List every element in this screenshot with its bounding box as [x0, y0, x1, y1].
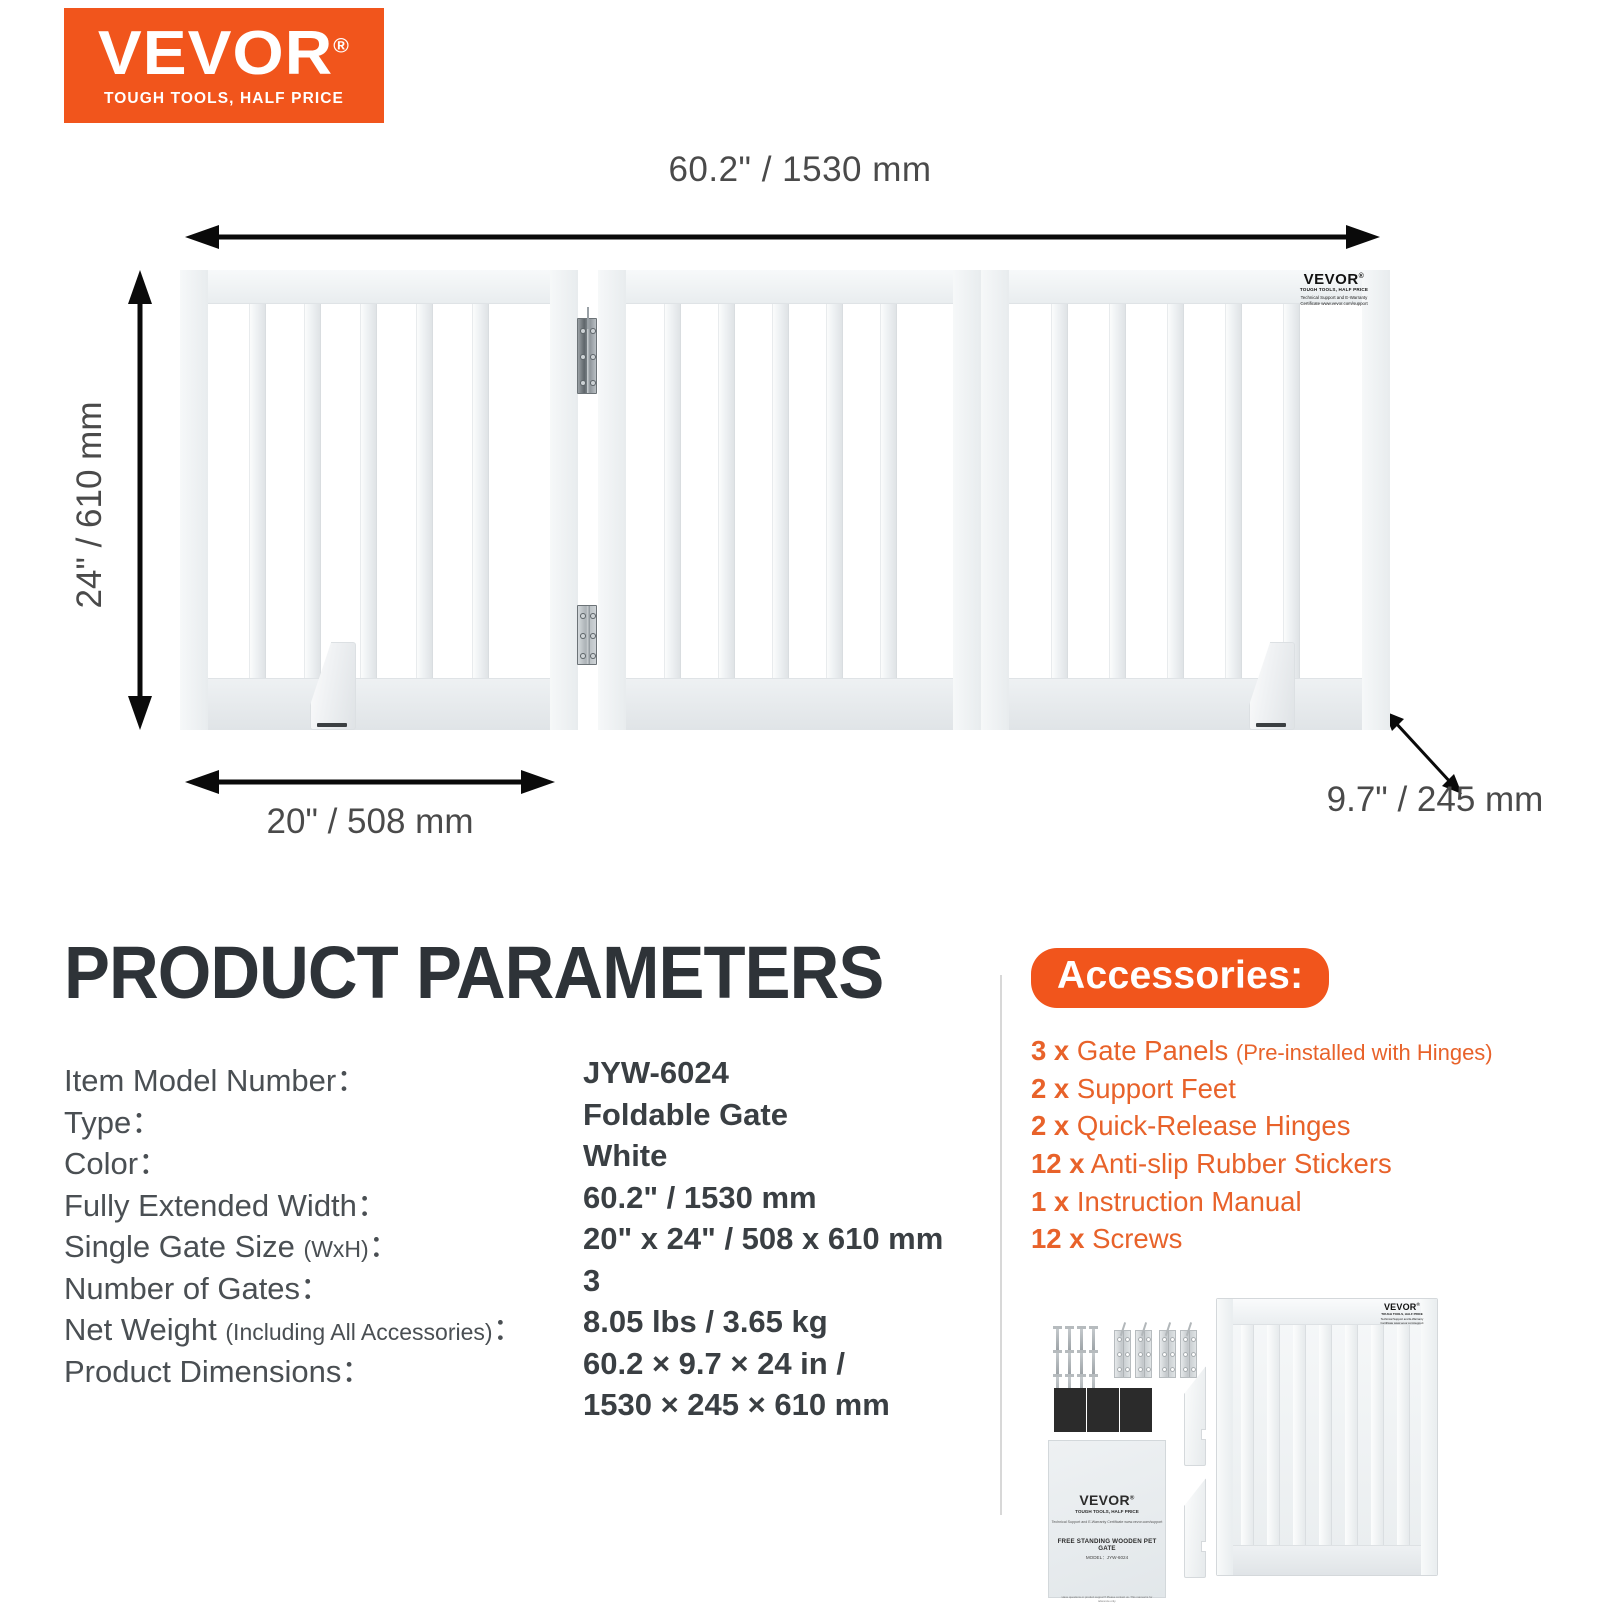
panel-slat: [1167, 304, 1184, 678]
param-label: Product Dimensions：: [64, 1346, 372, 1391]
hinge-screw: [1118, 1368, 1121, 1371]
param-value: 20" x 24" / 508 x 610 mm: [583, 1221, 943, 1257]
height-dimension-arrow: [128, 270, 152, 730]
panel-left-stile: [1217, 1299, 1233, 1575]
param-value: 8.05 lbs / 3.65 kg: [583, 1304, 828, 1340]
screw-icon: [1092, 1350, 1095, 1376]
foot-notch: [1201, 1541, 1210, 1552]
param-label: Single Gate Size (WxH)：: [64, 1221, 400, 1266]
hinge-screw: [1171, 1338, 1174, 1341]
manual-registered: ®: [1130, 1495, 1135, 1501]
accessory-name: Gate Panels: [1077, 1035, 1228, 1066]
hinge-screw: [591, 634, 595, 638]
quick-release-hinge-top: [577, 318, 597, 394]
hinge-icon: [1180, 1330, 1197, 1378]
panel-top-rail: [180, 270, 578, 304]
gate-panel-icon: VEVOR® TOUGH TOOLS, HALF PRICE Technical…: [1216, 1298, 1438, 1576]
screw-head: [1077, 1326, 1086, 1329]
hinge-screw: [1139, 1338, 1142, 1341]
accessory-qty: 2 x: [1031, 1073, 1069, 1104]
sticker-support-line-2: Certificate www.vevor.com/support: [1373, 1322, 1431, 1326]
hinge-screw: [581, 634, 585, 638]
hinge-icon: [1114, 1330, 1131, 1378]
accessory-name: Screws: [1092, 1223, 1182, 1254]
panel-right-stile: [1362, 270, 1390, 730]
hinge-screw: [591, 654, 595, 658]
manual-brand: VEVOR®: [1049, 1493, 1165, 1507]
panel-bottom-rail: [180, 678, 578, 730]
accessory-name: Anti-slip Rubber Stickers: [1091, 1148, 1392, 1179]
rubber-sticker-icon: [1120, 1388, 1152, 1432]
panel-slat: [826, 304, 843, 678]
hinge-screw: [1184, 1338, 1187, 1341]
panel-bottom-rail: [981, 678, 1390, 730]
screw-icon: [1080, 1350, 1083, 1376]
table-row: Color： White: [64, 1138, 999, 1180]
hinge-screw: [581, 329, 585, 333]
hinge-screw: [1118, 1353, 1121, 1356]
table-row: Product Dimensions： 60.2 × 9.7 × 24 in /…: [64, 1346, 999, 1388]
support-foot-icon: [1184, 1366, 1206, 1466]
hinge-screw: [591, 355, 595, 359]
panel-slat: [664, 304, 681, 678]
table-row: Net Weight (Including All Accessories)： …: [64, 1304, 999, 1346]
accessory-qty: 3 x: [1031, 1035, 1069, 1066]
vevor-product-sticker: VEVOR® TOUGH TOOLS, HALF PRICE Technical…: [1288, 272, 1380, 312]
param-label: Fully Extended Width：: [64, 1180, 388, 1225]
panel-bottom-rail: [598, 678, 981, 730]
screw-head: [1065, 1326, 1074, 1329]
hinge-knuckle: [1168, 1331, 1170, 1377]
accessory-note: (Pre-installed with Hinges): [1236, 1040, 1493, 1065]
brand-tagline: TOUGH TOOLS, HALF PRICE: [104, 90, 344, 108]
hinge-screw: [591, 614, 595, 618]
param-value: JYW-6024: [583, 1055, 729, 1091]
panel-slat: [772, 304, 789, 678]
panel-slat: [1345, 1325, 1358, 1545]
panel-slat: [304, 304, 321, 678]
screw-icon: [1080, 1326, 1083, 1352]
hinge-screw: [1163, 1338, 1166, 1341]
hinge-screw: [591, 381, 595, 385]
instruction-manual: VEVOR® TOUGH TOOLS, HALF PRICE Technical…: [1048, 1440, 1166, 1598]
screw-head: [1065, 1374, 1074, 1377]
product-spec-page: VEVOR® TOUGH TOOLS, HALF PRICE 60.2" / 1…: [0, 0, 1600, 1600]
hinge-screw: [1163, 1368, 1166, 1371]
hinge-screw: [1126, 1353, 1129, 1356]
hinge-screw: [1147, 1353, 1150, 1356]
hinge-knuckle: [1189, 1331, 1191, 1377]
panel-slat: [472, 304, 489, 678]
hinge-screw: [581, 381, 585, 385]
product-photo-area: 60.2" / 1530 mm 24" / 610 mm 20" / 508 m…: [0, 130, 1600, 910]
param-value: 3: [583, 1263, 600, 1299]
hinge-icon: [1159, 1330, 1176, 1378]
hinge-knuckle: [1123, 1331, 1125, 1377]
accessory-name: Instruction Manual: [1077, 1186, 1302, 1217]
vevor-logo: VEVOR® TOUGH TOOLS, HALF PRICE: [64, 8, 384, 123]
param-label: Net Weight (Including All Accessories)：: [64, 1304, 524, 1349]
hinge-screw: [1147, 1368, 1150, 1371]
panel-vevor-sticker: VEVOR® TOUGH TOOLS, HALF PRICE Technical…: [1373, 1302, 1431, 1325]
rubber-sticker-icon: [1087, 1388, 1119, 1432]
panel-right-stile: [1421, 1299, 1437, 1575]
screw-head: [1077, 1350, 1086, 1353]
panel-slat: [1283, 304, 1300, 678]
manual-model: MODEL：JYW-6024: [1049, 1555, 1165, 1561]
panel-right-stile: [550, 270, 578, 730]
panel-slat: [1241, 1325, 1254, 1545]
foot-rubber-pad: [1256, 723, 1286, 727]
param-value: 60.2 × 9.7 × 24 in /: [583, 1346, 845, 1382]
hinge-knuckle: [587, 606, 590, 664]
screw-head: [1089, 1374, 1098, 1377]
list-item: 3 x Gate Panels (Pre-installed with Hing…: [1031, 1032, 1591, 1070]
gate-panel-1: [180, 270, 578, 730]
rubber-sticker-icon: [1054, 1388, 1086, 1432]
panel-slat: [1267, 1325, 1280, 1545]
param-label: Number of Gates：: [64, 1263, 331, 1308]
screw-icon: [1092, 1326, 1095, 1352]
support-foot-icon: [1184, 1478, 1206, 1578]
foot-rubber-pad: [317, 723, 347, 727]
param-label: Item Model Number：: [64, 1055, 367, 1100]
panel-slat: [416, 304, 433, 678]
registered-mark: ®: [333, 35, 350, 57]
list-item: 2 x Support Feet: [1031, 1070, 1591, 1108]
screw-icon: [1056, 1350, 1059, 1376]
height-dimension-label: 24" / 610 mm: [70, 295, 110, 715]
accessory-qty: 2 x: [1031, 1110, 1069, 1141]
hinge-screw: [1126, 1338, 1129, 1341]
sticker-registered: ®: [1416, 1302, 1420, 1307]
hinge-knuckle: [1144, 1331, 1146, 1377]
accessory-qty: 12 x: [1031, 1223, 1085, 1254]
single-width-dimension-label: 20" / 508 mm: [185, 802, 555, 842]
hinge-icon: [1135, 1330, 1152, 1378]
accessory-name: Support Feet: [1077, 1073, 1236, 1104]
table-row: Number of Gates： 3: [64, 1263, 999, 1305]
list-item: 1 x Instruction Manual: [1031, 1183, 1591, 1221]
param-value: 60.2" / 1530 mm: [583, 1180, 817, 1216]
screw-head: [1077, 1374, 1086, 1377]
width-dimension-label: 60.2" / 1530 mm: [0, 150, 1600, 190]
manual-footer: Have questions or product support? Pleas…: [1049, 1595, 1165, 1603]
list-item: 12 x Anti-slip Rubber Stickers: [1031, 1145, 1591, 1183]
panel-slat: [1397, 1325, 1410, 1545]
manual-title: FREE STANDING WOODEN PET GATE: [1049, 1538, 1165, 1552]
hinge-screw: [591, 329, 595, 333]
gate-panel-3: VEVOR® TOUGH TOOLS, HALF PRICE Technical…: [981, 270, 1390, 730]
param-label-sub: (WxH): [304, 1236, 369, 1262]
panel-top-rail: [598, 270, 981, 304]
screw-head: [1053, 1374, 1062, 1377]
panel-slat: [1051, 304, 1068, 678]
panel-slat: [880, 304, 897, 678]
panel-left-stile: [981, 270, 1009, 730]
accessory-qty: 12 x: [1031, 1148, 1085, 1179]
hinge-screw: [581, 614, 585, 618]
hinge-screw: [1139, 1368, 1142, 1371]
screw-icon: [1068, 1326, 1071, 1352]
quick-release-hinge-bottom: [577, 605, 597, 665]
sticker-brand: VEVOR®: [1288, 272, 1380, 287]
param-value: Foldable Gate: [583, 1097, 788, 1133]
hinge-screw: [1192, 1353, 1195, 1356]
width-dimension-arrow: [185, 225, 1380, 249]
sticker-brand: VEVOR®: [1373, 1302, 1431, 1312]
screw-head: [1053, 1350, 1062, 1353]
screw-icon: [1068, 1350, 1071, 1376]
table-row: Single Gate Size (WxH)： 20" x 24" / 508 …: [64, 1221, 999, 1263]
hinge-screw: [1118, 1338, 1121, 1341]
hinge-screw: [1184, 1368, 1187, 1371]
sticker-support-line-2: Certificate www.vevor.com/support: [1288, 301, 1380, 307]
manual-tagline: TOUGH TOOLS, HALF PRICE: [1049, 1509, 1165, 1514]
param-label-sub: (Including All Accessories): [225, 1319, 492, 1345]
accessory-name: Quick-Release Hinges: [1077, 1110, 1351, 1141]
hinge-release-pin: [587, 307, 589, 329]
list-item: 2 x Quick-Release Hinges: [1031, 1107, 1591, 1145]
table-row: Fully Extended Width： 60.2" / 1530 mm: [64, 1180, 999, 1222]
panel-slat: [360, 304, 377, 678]
accessories-image: VEVOR® TOUGH TOOLS, HALF PRICE Technical…: [1026, 1288, 1586, 1588]
depth-dimension-label: 9.7" / 245 mm: [1270, 780, 1600, 820]
hinge-screw: [1147, 1338, 1150, 1341]
param-value-line2: 1530 × 245 × 610 mm: [583, 1387, 890, 1423]
panel-slat: [1225, 304, 1242, 678]
sticker-tagline: TOUGH TOOLS, HALF PRICE: [1373, 1312, 1431, 1316]
accessories-list: 3 x Gate Panels (Pre-installed with Hing…: [1031, 1032, 1591, 1258]
manual-support-line: Technical Support and E-Warranty Certifi…: [1049, 1520, 1165, 1524]
screw-head: [1089, 1350, 1098, 1353]
hinge-screw: [1163, 1353, 1166, 1356]
hinge-screw: [1126, 1368, 1129, 1371]
hinge-screw: [1184, 1353, 1187, 1356]
hinge-screw: [1139, 1353, 1142, 1356]
panel-bottom-rail: [1217, 1545, 1437, 1575]
screw-head: [1089, 1326, 1098, 1329]
accessories-heading: Accessories:: [1031, 948, 1329, 1008]
list-item: 12 x Screws: [1031, 1220, 1591, 1258]
panel-slat: [718, 304, 735, 678]
panel-slat: [1293, 1325, 1306, 1545]
param-label: Type：: [64, 1097, 162, 1142]
hinge-screw: [1171, 1368, 1174, 1371]
screw-icon: [1056, 1326, 1059, 1352]
sticker-tagline: TOUGH TOOLS, HALF PRICE: [1288, 288, 1380, 293]
table-row: Item Model Number： JYW-6024: [64, 1055, 999, 1097]
panel-slat: [249, 304, 266, 678]
param-label: Color：: [64, 1138, 169, 1183]
panel-slat: [1319, 1325, 1332, 1545]
accessory-qty: 1 x: [1031, 1186, 1069, 1217]
table-row: Type： Foldable Gate: [64, 1097, 999, 1139]
foot-notch: [1201, 1429, 1210, 1440]
single-width-dimension-arrow: [185, 770, 555, 794]
hinge-knuckle: [587, 319, 590, 393]
screw-head: [1065, 1350, 1074, 1353]
panel-left-stile: [180, 270, 208, 730]
page-title: PRODUCT PARAMETERS: [64, 930, 883, 1015]
hinge-screw: [581, 654, 585, 658]
parameters-table: Item Model Number： JYW-6024 Type： Foldab…: [64, 1055, 999, 1387]
panel-right-stile: [953, 270, 981, 730]
hinge-screw: [581, 355, 585, 359]
hinge-screw: [1171, 1353, 1174, 1356]
param-value: White: [583, 1138, 667, 1174]
gate-illustration: VEVOR® TOUGH TOOLS, HALF PRICE Technical…: [180, 270, 1390, 745]
panel-slat: [1371, 1325, 1384, 1545]
hinge-screw: [1192, 1338, 1195, 1341]
screw-head: [1053, 1326, 1062, 1329]
brand-name: VEVOR®: [98, 23, 350, 85]
panel-left-stile: [598, 270, 626, 730]
panel-slat: [1109, 304, 1126, 678]
section-divider: [1000, 975, 1002, 1515]
sticker-registered: ®: [1359, 273, 1365, 280]
hinge-screw: [1192, 1368, 1195, 1371]
gate-panel-2: [598, 270, 981, 730]
